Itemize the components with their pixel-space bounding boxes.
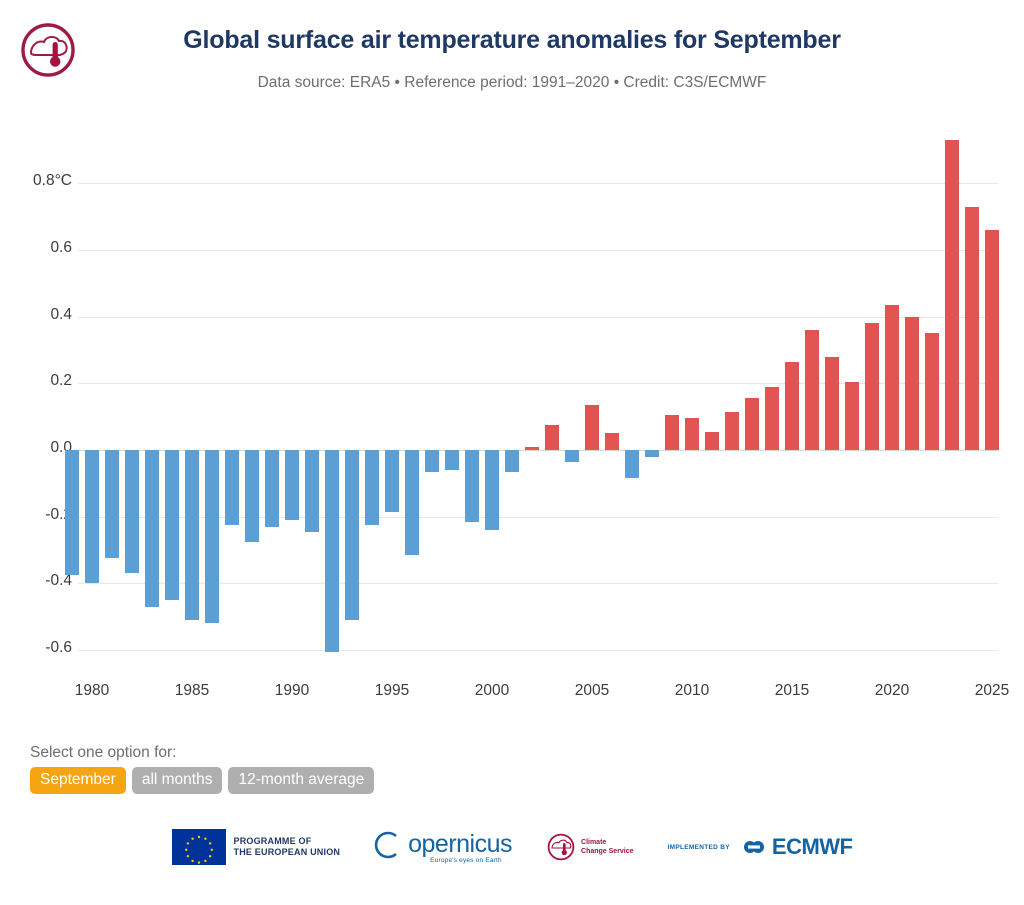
bar-1996[interactable] bbox=[405, 450, 419, 555]
copernicus-wordmark: opernicus Europe's eyes on Earth bbox=[408, 831, 512, 864]
ecmwf-logo-group: IMPLEMENTED BY ECMWF bbox=[668, 834, 853, 860]
ecmwf-mark-icon bbox=[738, 838, 768, 856]
option-pill-12-month-average[interactable]: 12-month average bbox=[228, 767, 374, 794]
bar-1997[interactable] bbox=[425, 450, 439, 472]
implemented-by-label: IMPLEMENTED BY bbox=[668, 844, 730, 851]
ecmwf-name: ECMWF bbox=[772, 834, 853, 860]
bar-1982[interactable] bbox=[125, 450, 139, 573]
selector-label: Select one option for: bbox=[30, 744, 374, 762]
bar-2012[interactable] bbox=[725, 412, 739, 450]
copernicus-name: opernicus bbox=[408, 830, 512, 858]
bar-2013[interactable] bbox=[745, 398, 759, 450]
y-axis-tick-label: -0.4 bbox=[8, 572, 72, 590]
x-axis-tick-label: 2020 bbox=[862, 682, 922, 700]
copernicus-tagline: Europe's eyes on Earth bbox=[430, 857, 502, 864]
y-axis-tick-label: 0.4 bbox=[8, 306, 72, 324]
eu-logo-text: PROGRAMME OF THE EUROPEAN UNION bbox=[234, 836, 341, 858]
eu-text-line2: THE EUROPEAN UNION bbox=[234, 847, 341, 858]
bar-2023[interactable] bbox=[945, 140, 959, 450]
gridline bbox=[78, 383, 998, 384]
bar-2007[interactable] bbox=[625, 450, 639, 478]
c3s-text-line1: Climate bbox=[581, 838, 634, 847]
bar-1999[interactable] bbox=[465, 450, 479, 522]
x-axis-tick-label: 1995 bbox=[362, 682, 422, 700]
bar-1987[interactable] bbox=[225, 450, 239, 525]
x-axis-tick-label: 2025 bbox=[962, 682, 1022, 700]
gridline bbox=[78, 183, 998, 184]
bar-1984[interactable] bbox=[165, 450, 179, 600]
bar-1991[interactable] bbox=[305, 450, 319, 532]
bar-2018[interactable] bbox=[845, 382, 859, 450]
bar-1979[interactable] bbox=[65, 450, 79, 575]
bar-1986[interactable] bbox=[205, 450, 219, 623]
bar-1993[interactable] bbox=[345, 450, 359, 620]
bar-2005[interactable] bbox=[585, 405, 599, 450]
bar-2001[interactable] bbox=[505, 450, 519, 472]
bar-2000[interactable] bbox=[485, 450, 499, 530]
bar-2009[interactable] bbox=[665, 415, 679, 450]
c3s-text-line2: Change Service bbox=[581, 847, 634, 856]
x-axis-tick-label: 1985 bbox=[162, 682, 222, 700]
bar-1983[interactable] bbox=[145, 450, 159, 607]
y-axis-tick-label: -0.2 bbox=[8, 506, 72, 524]
eu-flag-icon bbox=[172, 829, 226, 865]
y-axis-tick-label: 0.2 bbox=[8, 372, 72, 390]
bar-2008[interactable] bbox=[645, 450, 659, 457]
x-axis-tick-label: 2015 bbox=[762, 682, 822, 700]
bar-2020[interactable] bbox=[885, 305, 899, 450]
bar-1990[interactable] bbox=[285, 450, 299, 520]
y-axis-tick-label: 0.0 bbox=[8, 439, 72, 457]
copernicus-c-icon bbox=[374, 830, 400, 865]
x-axis-tick-label: 1990 bbox=[262, 682, 322, 700]
gridline bbox=[78, 250, 998, 251]
x-axis-tick-label: 1980 bbox=[62, 682, 122, 700]
bar-2019[interactable] bbox=[865, 323, 879, 450]
y-axis-tick-label: -0.6 bbox=[8, 639, 72, 657]
bar-1988[interactable] bbox=[245, 450, 259, 542]
bar-1980[interactable] bbox=[85, 450, 99, 583]
bar-2015[interactable] bbox=[785, 362, 799, 450]
c3s-logo-group: Climate Change Service bbox=[546, 832, 634, 862]
bar-2021[interactable] bbox=[905, 317, 919, 450]
bar-2016[interactable] bbox=[805, 330, 819, 450]
y-axis-tick-label: 0.6 bbox=[8, 239, 72, 257]
bar-2025[interactable] bbox=[985, 230, 999, 450]
selector-pill-row: Septemberall months12-month average bbox=[30, 767, 374, 794]
bar-1992[interactable] bbox=[325, 450, 339, 652]
c3s-small-icon bbox=[546, 832, 576, 862]
x-axis-tick-label: 2005 bbox=[562, 682, 622, 700]
bar-2006[interactable] bbox=[605, 433, 619, 450]
bar-2022[interactable] bbox=[925, 333, 939, 450]
bar-1981[interactable] bbox=[105, 450, 119, 558]
bar-2004[interactable] bbox=[565, 450, 579, 462]
month-selector: Select one option for: Septemberall mont… bbox=[30, 744, 374, 794]
bar-2002[interactable] bbox=[525, 447, 539, 450]
bar-2010[interactable] bbox=[685, 418, 699, 450]
bar-2024[interactable] bbox=[965, 207, 979, 450]
eu-text-line1: PROGRAMME OF bbox=[234, 836, 341, 847]
c3s-logo-text: Climate Change Service bbox=[581, 838, 634, 856]
footer-logo-strip: PROGRAMME OF THE EUROPEAN UNION opernicu… bbox=[0, 822, 1024, 872]
bar-2011[interactable] bbox=[705, 432, 719, 450]
y-axis-tick-label: 0.8°C bbox=[8, 172, 72, 190]
x-axis-tick-label: 2000 bbox=[462, 682, 522, 700]
bar-1994[interactable] bbox=[365, 450, 379, 525]
option-pill-september[interactable]: September bbox=[30, 767, 126, 794]
bar-2014[interactable] bbox=[765, 387, 779, 450]
bar-1998[interactable] bbox=[445, 450, 459, 470]
eu-logo-group: PROGRAMME OF THE EUROPEAN UNION bbox=[172, 829, 341, 865]
x-axis-tick-label: 2010 bbox=[662, 682, 722, 700]
bar-1985[interactable] bbox=[185, 450, 199, 620]
bar-2003[interactable] bbox=[545, 425, 559, 450]
option-pill-all-months[interactable]: all months bbox=[132, 767, 223, 794]
copernicus-logo-group: opernicus Europe's eyes on Earth bbox=[374, 830, 512, 865]
gridline bbox=[78, 317, 998, 318]
bar-2017[interactable] bbox=[825, 357, 839, 450]
gridline bbox=[78, 650, 998, 651]
bar-1995[interactable] bbox=[385, 450, 399, 512]
chart-plot-area: 0.8°C0.60.40.20.0-0.2-0.4-0.6 1980198519… bbox=[0, 0, 1024, 720]
bar-1989[interactable] bbox=[265, 450, 279, 527]
